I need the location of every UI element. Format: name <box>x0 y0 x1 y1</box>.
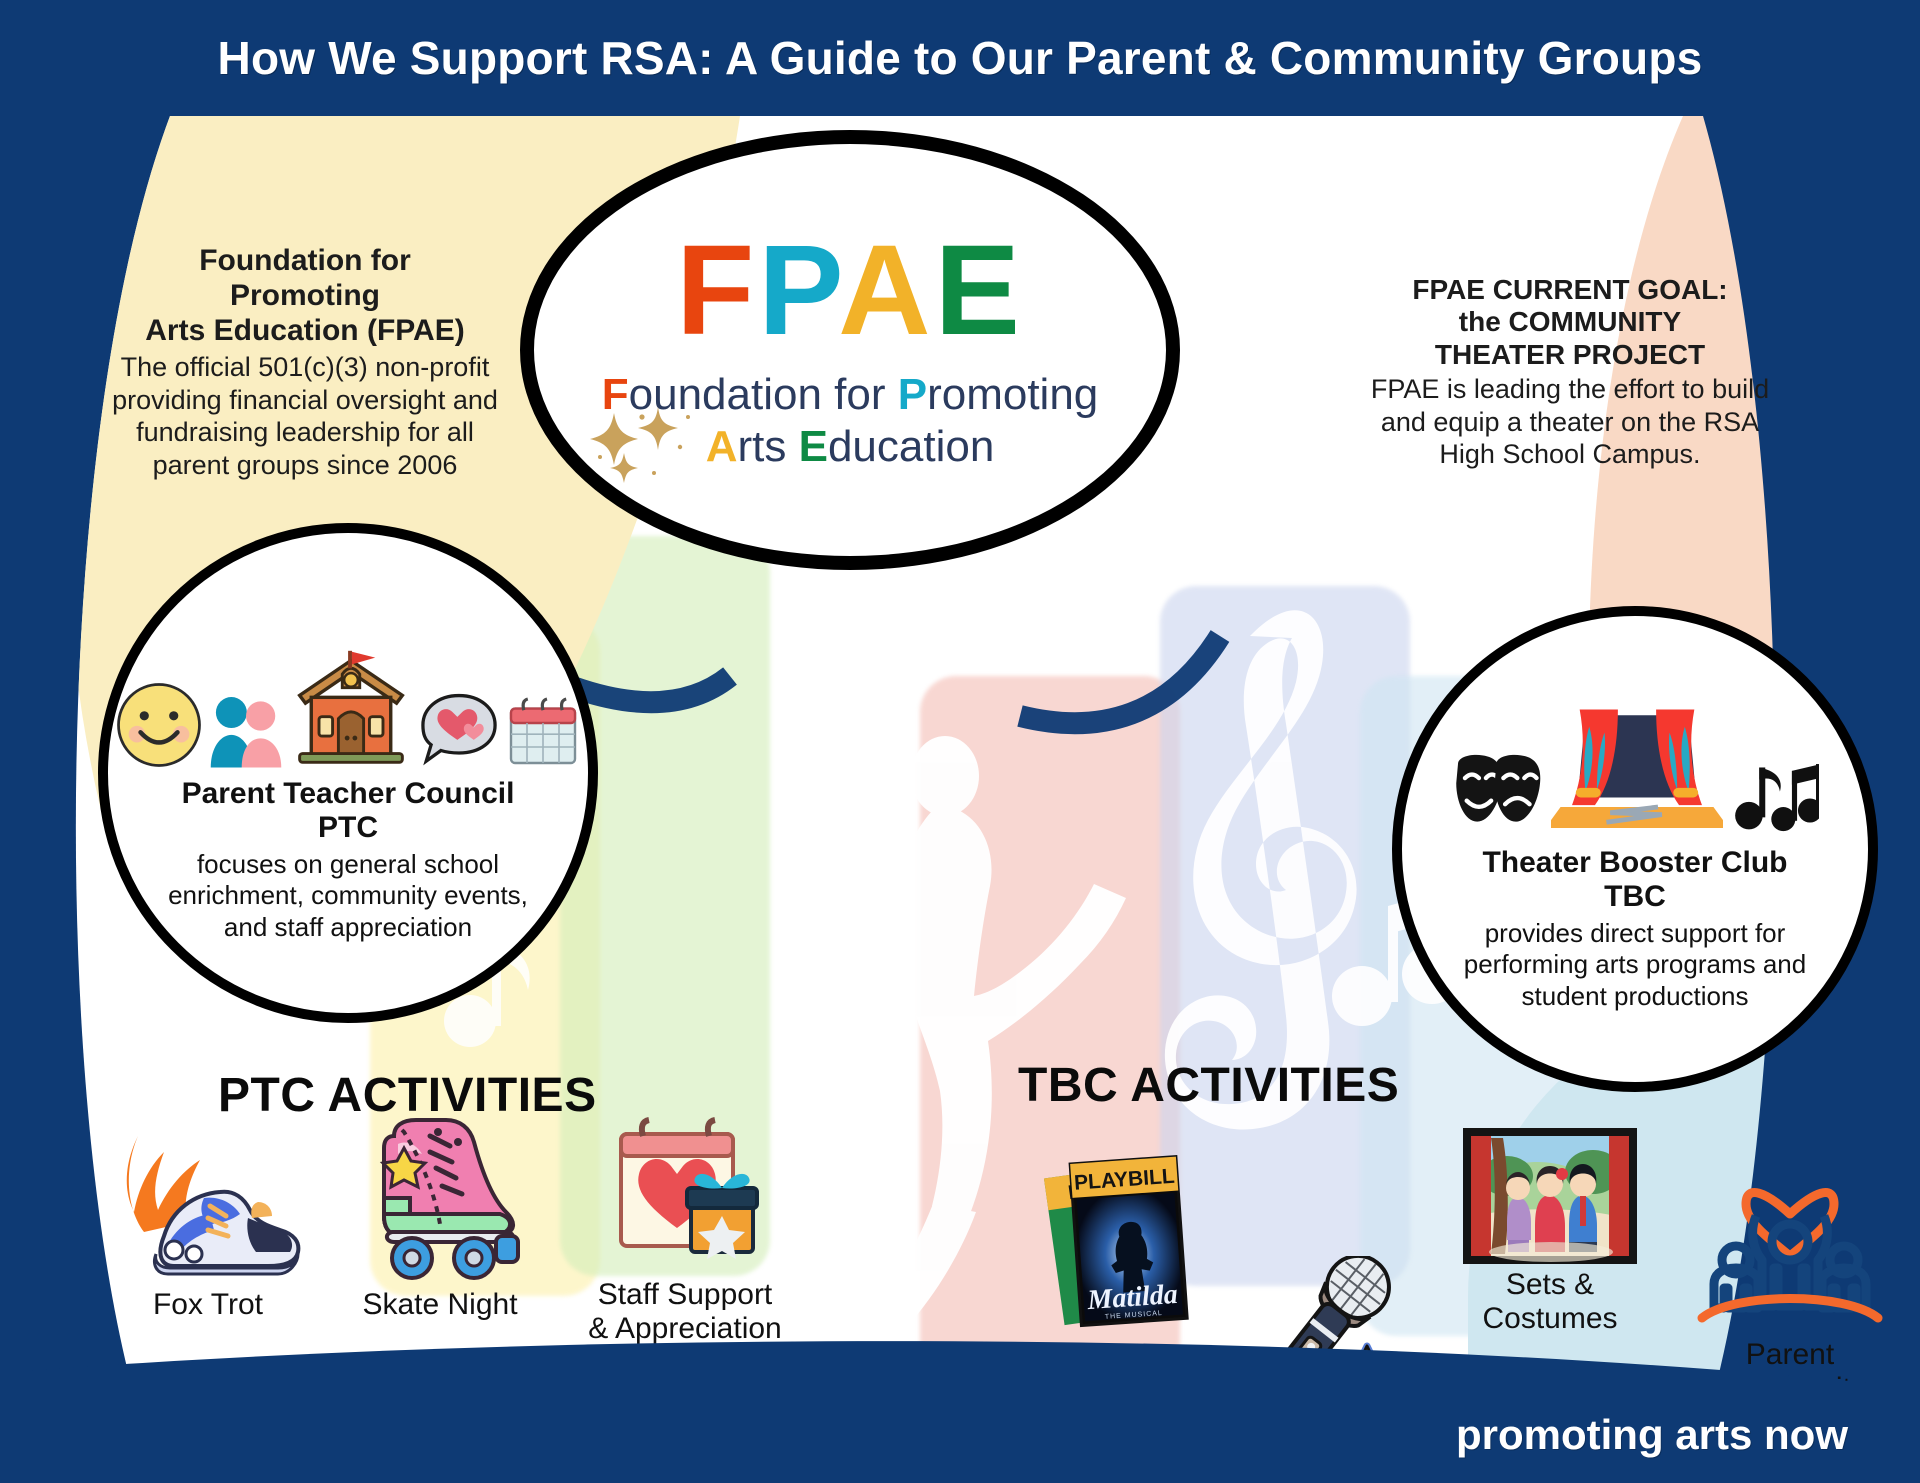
calendar-icon <box>503 691 583 771</box>
ptc-icon-row <box>108 581 588 771</box>
tbc-circle: Theater Booster Club TBC provides direct… <box>1392 606 1878 1092</box>
tbc-name-line2: TBC <box>1402 880 1868 914</box>
playbill-matilda-icon: PL PLAYBILL <box>1000 1146 1240 1346</box>
activity-label-sets-2: Costumes <box>1450 1302 1650 1336</box>
ptc-name-line2: PTC <box>108 811 588 845</box>
activity-label-fox-trot: Fox Trot <box>98 1288 318 1322</box>
activity-staff-support: Staff Support & Appreciation <box>570 1116 800 1345</box>
activity-sets-costumes: Sets & Costumes <box>1450 1126 1650 1335</box>
family-heart-community-icon <box>1680 1156 1888 1336</box>
fpae-intro-heading-3: Arts Education (FPAE) <box>95 314 515 349</box>
activity-skate-night: Skate Night <box>340 1106 540 1322</box>
activity-label-sets-1: Sets & <box>1450 1268 1650 1302</box>
theater-masks-icon <box>1451 746 1547 838</box>
fpae-intro-heading-2: Promoting <box>95 279 515 314</box>
ptc-label-group: Parent Teacher Council PTC focuses on ge… <box>108 777 588 943</box>
footer-tagline: promoting arts now <box>1456 1411 1848 1459</box>
roller-skate-icon <box>340 1106 540 1286</box>
poster-root: How We Support RSA: A Guide to Our Paren… <box>0 0 1920 1483</box>
music-notes-icon <box>1727 752 1819 838</box>
tbc-description: provides direct support for performing a… <box>1402 918 1868 1012</box>
stage-curtains-icon <box>1551 690 1723 838</box>
fpae-intro-heading-1: Foundation for <box>95 244 515 279</box>
fpae-intro-block: Foundation for Promoting Arts Education … <box>95 244 515 481</box>
heart-speech-bubble-icon <box>417 689 501 771</box>
fpae-goal-heading-2: the COMMUNITY <box>1370 306 1770 338</box>
fpae-acronym: FPAE <box>676 227 1024 355</box>
activity-label-staff-support-1: Staff Support <box>570 1278 800 1312</box>
running-shoe-flame-icon <box>98 1126 318 1286</box>
fpae-logo-tagline: Foundation for Promoting Arts Education <box>602 369 1099 473</box>
ptc-name-line1: Parent Teacher Council <box>108 777 588 811</box>
sparkles-icon <box>584 403 714 483</box>
activity-label-skate-night: Skate Night <box>340 1288 540 1322</box>
ptc-description: focuses on general school enrichment, co… <box>108 849 588 943</box>
tbc-label-group: Theater Booster Club TBC provides direct… <box>1402 846 1868 1012</box>
fpae-goal-block: FPAE CURRENT GOAL: the COMMUNITY THEATER… <box>1370 274 1770 471</box>
fpae-goal-heading-1: FPAE CURRENT GOAL: <box>1370 274 1770 306</box>
page-title: How We Support RSA: A Guide to Our Paren… <box>218 31 1703 85</box>
tbc-activities-title: TBC ACTIVITIES <box>1018 1058 1399 1113</box>
activity-fox-trot: Fox Trot <box>98 1126 318 1322</box>
fpae-goal-body: FPAE is leading the effort to build and … <box>1370 373 1770 470</box>
ptc-circle: Parent Teacher Council PTC focuses on ge… <box>98 523 598 1023</box>
fpae-logo-oval: FPAE Foundation for Promoting Arts Educa… <box>520 130 1180 570</box>
show-title: Matilda <box>1086 1279 1179 1316</box>
tbc-icon-row <box>1402 668 1868 838</box>
smiley-face-icon <box>113 679 205 771</box>
tbc-name-line1: Theater Booster Club <box>1402 846 1868 880</box>
stage-scene-frame-icon <box>1450 1126 1650 1266</box>
fpae-intro-body: The official 501(c)(3) non-profit provid… <box>95 351 515 481</box>
title-bar: How We Support RSA: A Guide to Our Paren… <box>0 0 1920 116</box>
calendar-heart-gift-icon <box>570 1116 800 1276</box>
fpae-goal-heading-3: THEATER PROJECT <box>1370 339 1770 371</box>
activity-label-staff-support-2: & Appreciation <box>570 1312 800 1346</box>
activity-label-pcn-1: Parent <box>1680 1338 1888 1372</box>
parents-icon <box>207 685 285 771</box>
school-building-icon <box>287 645 415 771</box>
